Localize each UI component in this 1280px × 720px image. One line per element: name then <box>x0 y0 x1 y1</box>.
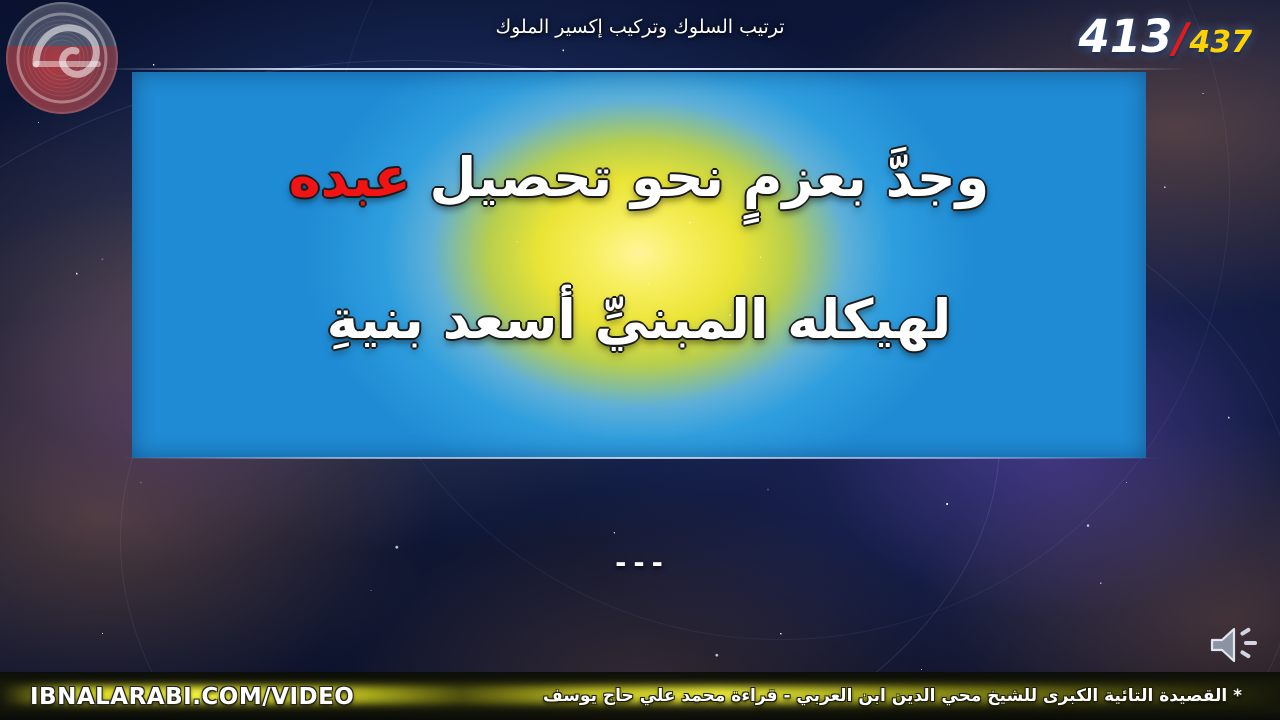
speaker-volume-icon[interactable] <box>1206 622 1264 668</box>
subtitle-placeholder: --- <box>0 548 1280 579</box>
video-player-frame: ترتيب السلوك وتركيب إكسير الملوك 413 / 4… <box>0 0 1280 720</box>
verse-line-1-text: وجدَّ بعزمٍ نحو تحصيل <box>411 146 990 209</box>
verse-line-2: لهيكله المبنيِّ أسعد بنيةِ <box>132 288 1146 351</box>
counter-separator: / <box>1173 18 1188 59</box>
verse-line-1: وجدَّ بعزمٍ نحو تحصيل عبده <box>132 146 1146 209</box>
ticker-text: * القصيدة التائية الكبرى للشيخ محي الدين… <box>543 686 1242 706</box>
slide-panel <box>132 72 1146 458</box>
verse-counter: 413 / 437 <box>1078 14 1252 59</box>
counter-current: 413 <box>1078 14 1172 59</box>
bottom-ticker-bar: IBNALARABI.COM/VIDEO * القصيدة التائية ا… <box>0 672 1280 720</box>
verse-line-1-highlight: عبده <box>289 146 411 209</box>
counter-total: 437 <box>1189 28 1252 58</box>
site-url-label[interactable]: IBNALARABI.COM/VIDEO <box>30 684 354 710</box>
